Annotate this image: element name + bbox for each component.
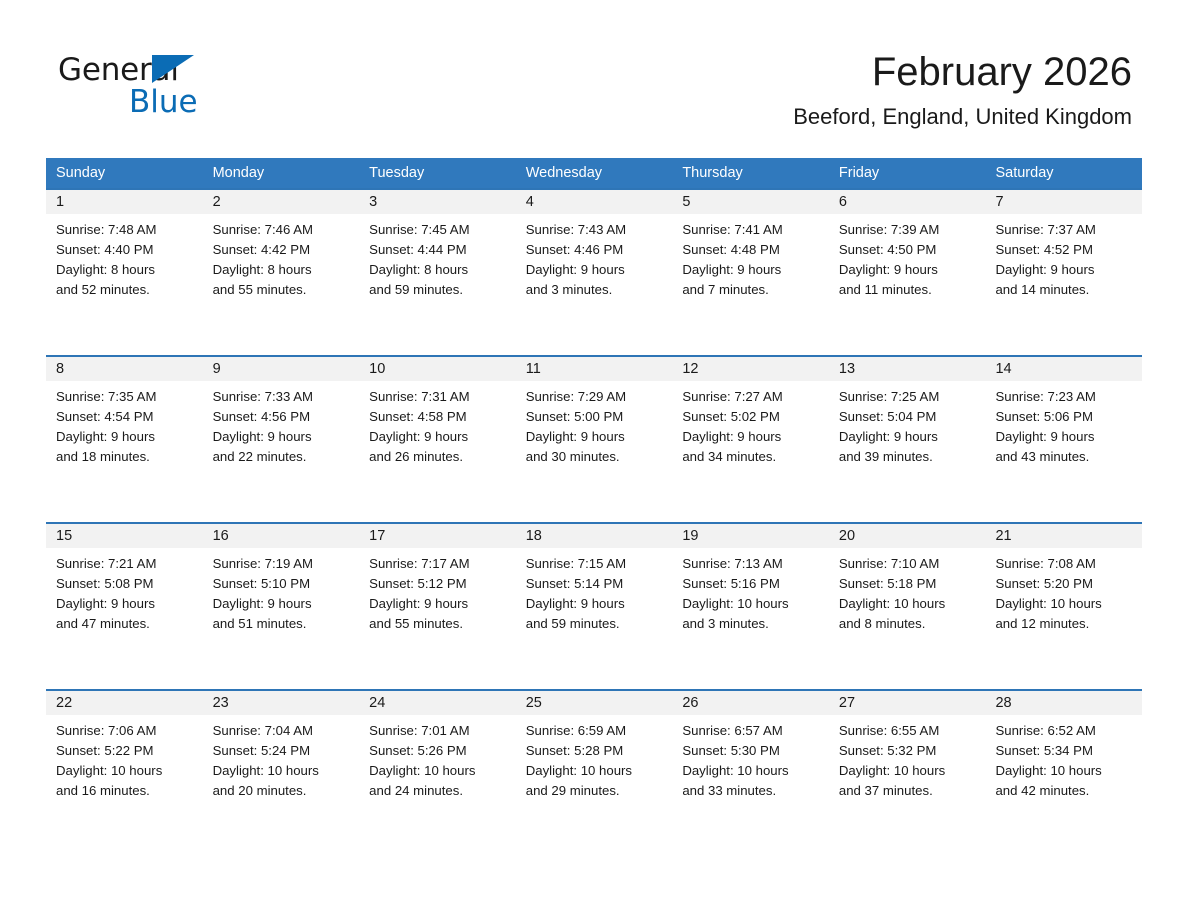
- day-cell[interactable]: 26 Sunrise: 6:57 AM Sunset: 5:30 PM Dayl…: [672, 691, 829, 856]
- day-number: 1: [56, 194, 64, 210]
- daylight-text-line2: and 29 minutes.: [526, 781, 665, 801]
- day-number: 11: [526, 361, 541, 377]
- daylight-text-line1: Daylight: 10 hours: [682, 761, 821, 781]
- day-cell[interactable]: 22 Sunrise: 7:06 AM Sunset: 5:22 PM Dayl…: [46, 691, 203, 856]
- sunrise-text: Sunrise: 7:17 AM: [369, 554, 508, 574]
- day-info: Sunrise: 7:41 AM Sunset: 4:48 PM Dayligh…: [672, 214, 829, 300]
- sunrise-text: Sunrise: 7:06 AM: [56, 721, 195, 741]
- daylight-text-line1: Daylight: 9 hours: [839, 260, 978, 280]
- daylight-text-line1: Daylight: 9 hours: [56, 427, 195, 447]
- daylight-text-line2: and 14 minutes.: [995, 280, 1134, 300]
- day-number-band: 2: [203, 190, 360, 214]
- sunset-text: Sunset: 4:44 PM: [369, 240, 508, 260]
- sunset-text: Sunset: 5:10 PM: [213, 574, 352, 594]
- day-info: Sunrise: 7:23 AM Sunset: 5:06 PM Dayligh…: [985, 381, 1142, 467]
- sunset-text: Sunset: 5:20 PM: [995, 574, 1134, 594]
- sunrise-text: Sunrise: 7:27 AM: [682, 387, 821, 407]
- sunset-text: Sunset: 4:56 PM: [213, 407, 352, 427]
- day-number-band: 15: [46, 524, 203, 548]
- weekday-header-thursday: Thursday: [672, 158, 829, 188]
- day-number-band: 14: [985, 357, 1142, 381]
- page-title: February 2026: [793, 48, 1132, 96]
- day-number-band: 8: [46, 357, 203, 381]
- day-cell[interactable]: 2 Sunrise: 7:46 AM Sunset: 4:42 PM Dayli…: [203, 190, 360, 355]
- day-number: 18: [526, 528, 542, 544]
- day-info: Sunrise: 7:13 AM Sunset: 5:16 PM Dayligh…: [672, 548, 829, 634]
- day-number-band: 3: [359, 190, 516, 214]
- daylight-text-line1: Daylight: 9 hours: [682, 260, 821, 280]
- daylight-text-line1: Daylight: 9 hours: [56, 594, 195, 614]
- sunset-text: Sunset: 4:58 PM: [369, 407, 508, 427]
- day-number: 2: [213, 194, 221, 210]
- day-cell[interactable]: 18 Sunrise: 7:15 AM Sunset: 5:14 PM Dayl…: [516, 524, 673, 689]
- sunset-text: Sunset: 5:06 PM: [995, 407, 1134, 427]
- daylight-text-line2: and 26 minutes.: [369, 447, 508, 467]
- sunset-text: Sunset: 5:12 PM: [369, 574, 508, 594]
- sunrise-text: Sunrise: 7:10 AM: [839, 554, 978, 574]
- day-number: 10: [369, 361, 385, 377]
- sunrise-text: Sunrise: 7:08 AM: [995, 554, 1134, 574]
- daylight-text-line2: and 34 minutes.: [682, 447, 821, 467]
- daylight-text-line1: Daylight: 9 hours: [526, 594, 665, 614]
- day-info: Sunrise: 7:15 AM Sunset: 5:14 PM Dayligh…: [516, 548, 673, 634]
- daylight-text-line2: and 55 minutes.: [213, 280, 352, 300]
- sunset-text: Sunset: 5:22 PM: [56, 741, 195, 761]
- day-number: 4: [526, 194, 534, 210]
- sunset-text: Sunset: 5:00 PM: [526, 407, 665, 427]
- sunset-text: Sunset: 4:46 PM: [526, 240, 665, 260]
- sunrise-text: Sunrise: 7:23 AM: [995, 387, 1134, 407]
- day-number: 6: [839, 194, 847, 210]
- day-info: Sunrise: 7:45 AM Sunset: 4:44 PM Dayligh…: [359, 214, 516, 300]
- weekday-header-tuesday: Tuesday: [359, 158, 516, 188]
- sunset-text: Sunset: 4:42 PM: [213, 240, 352, 260]
- day-number: 12: [682, 361, 698, 377]
- day-number: 14: [995, 361, 1011, 377]
- day-cell[interactable]: 20 Sunrise: 7:10 AM Sunset: 5:18 PM Dayl…: [829, 524, 986, 689]
- sunrise-text: Sunrise: 7:35 AM: [56, 387, 195, 407]
- daylight-text-line1: Daylight: 8 hours: [213, 260, 352, 280]
- day-number: 8: [56, 361, 64, 377]
- daylight-text-line1: Daylight: 8 hours: [369, 260, 508, 280]
- day-number-band: 25: [516, 691, 673, 715]
- daylight-text-line1: Daylight: 10 hours: [56, 761, 195, 781]
- day-number-band: 21: [985, 524, 1142, 548]
- day-info: Sunrise: 7:37 AM Sunset: 4:52 PM Dayligh…: [985, 214, 1142, 300]
- sunset-text: Sunset: 5:08 PM: [56, 574, 195, 594]
- day-number-band: 26: [672, 691, 829, 715]
- day-info: Sunrise: 6:57 AM Sunset: 5:30 PM Dayligh…: [672, 715, 829, 801]
- day-number-band: 16: [203, 524, 360, 548]
- generalblue-logo[interactable]: General Blue: [58, 52, 378, 124]
- daylight-text-line2: and 59 minutes.: [526, 614, 665, 634]
- weekday-header-wednesday: Wednesday: [516, 158, 673, 188]
- sunset-text: Sunset: 5:32 PM: [839, 741, 978, 761]
- daylight-text-line2: and 7 minutes.: [682, 280, 821, 300]
- daylight-text-line2: and 3 minutes.: [682, 614, 821, 634]
- sunrise-text: Sunrise: 7:41 AM: [682, 220, 821, 240]
- daylight-text-line1: Daylight: 8 hours: [56, 260, 195, 280]
- daylight-text-line2: and 20 minutes.: [213, 781, 352, 801]
- sunrise-text: Sunrise: 7:21 AM: [56, 554, 195, 574]
- day-number: 23: [213, 695, 229, 711]
- day-info: Sunrise: 6:55 AM Sunset: 5:32 PM Dayligh…: [829, 715, 986, 801]
- sunset-text: Sunset: 4:54 PM: [56, 407, 195, 427]
- day-cell[interactable]: 8 Sunrise: 7:35 AM Sunset: 4:54 PM Dayli…: [46, 357, 203, 522]
- day-number: 27: [839, 695, 855, 711]
- logo-text-blue: Blue: [129, 84, 198, 120]
- sunset-text: Sunset: 4:40 PM: [56, 240, 195, 260]
- day-number-band: 12: [672, 357, 829, 381]
- sunset-text: Sunset: 5:34 PM: [995, 741, 1134, 761]
- daylight-text-line1: Daylight: 10 hours: [213, 761, 352, 781]
- day-cell[interactable]: 1 Sunrise: 7:48 AM Sunset: 4:40 PM Dayli…: [46, 190, 203, 355]
- sunset-text: Sunset: 5:02 PM: [682, 407, 821, 427]
- daylight-text-line2: and 30 minutes.: [526, 447, 665, 467]
- sunset-text: Sunset: 5:30 PM: [682, 741, 821, 761]
- day-info: Sunrise: 7:10 AM Sunset: 5:18 PM Dayligh…: [829, 548, 986, 634]
- day-number-band: 18: [516, 524, 673, 548]
- week-row: 22 Sunrise: 7:06 AM Sunset: 5:22 PM Dayl…: [46, 689, 1142, 856]
- day-cell[interactable]: 3 Sunrise: 7:45 AM Sunset: 4:44 PM Dayli…: [359, 190, 516, 355]
- week-row: 8 Sunrise: 7:35 AM Sunset: 4:54 PM Dayli…: [46, 355, 1142, 522]
- day-info: Sunrise: 7:39 AM Sunset: 4:50 PM Dayligh…: [829, 214, 986, 300]
- sunrise-text: Sunrise: 7:46 AM: [213, 220, 352, 240]
- day-cell[interactable]: 21 Sunrise: 7:08 AM Sunset: 5:20 PM Dayl…: [985, 524, 1142, 689]
- sunrise-text: Sunrise: 7:19 AM: [213, 554, 352, 574]
- day-info: Sunrise: 7:31 AM Sunset: 4:58 PM Dayligh…: [359, 381, 516, 467]
- day-number-band: 19: [672, 524, 829, 548]
- week-row: 15 Sunrise: 7:21 AM Sunset: 5:08 PM Dayl…: [46, 522, 1142, 689]
- sunset-text: Sunset: 4:52 PM: [995, 240, 1134, 260]
- sunset-text: Sunset: 4:50 PM: [839, 240, 978, 260]
- daylight-text-line2: and 51 minutes.: [213, 614, 352, 634]
- sunset-text: Sunset: 5:24 PM: [213, 741, 352, 761]
- daylight-text-line1: Daylight: 9 hours: [995, 427, 1134, 447]
- day-info: Sunrise: 6:59 AM Sunset: 5:28 PM Dayligh…: [516, 715, 673, 801]
- sunrise-text: Sunrise: 7:43 AM: [526, 220, 665, 240]
- day-cell[interactable]: 12 Sunrise: 7:27 AM Sunset: 5:02 PM Dayl…: [672, 357, 829, 522]
- day-number-band: 11: [516, 357, 673, 381]
- weekday-header-row: Sunday Monday Tuesday Wednesday Thursday…: [46, 158, 1142, 188]
- daylight-text-line1: Daylight: 10 hours: [995, 761, 1134, 781]
- daylight-text-line2: and 59 minutes.: [369, 280, 508, 300]
- day-number: 28: [995, 695, 1011, 711]
- day-cell[interactable]: 23 Sunrise: 7:04 AM Sunset: 5:24 PM Dayl…: [203, 691, 360, 856]
- day-info: Sunrise: 6:52 AM Sunset: 5:34 PM Dayligh…: [985, 715, 1142, 801]
- week-row: 1 Sunrise: 7:48 AM Sunset: 4:40 PM Dayli…: [46, 188, 1142, 355]
- sunrise-text: Sunrise: 6:57 AM: [682, 721, 821, 741]
- day-cell[interactable]: 24 Sunrise: 7:01 AM Sunset: 5:26 PM Dayl…: [359, 691, 516, 856]
- day-number-band: 28: [985, 691, 1142, 715]
- daylight-text-line2: and 39 minutes.: [839, 447, 978, 467]
- day-info: Sunrise: 7:01 AM Sunset: 5:26 PM Dayligh…: [359, 715, 516, 801]
- day-number-band: 1: [46, 190, 203, 214]
- daylight-text-line1: Daylight: 9 hours: [213, 427, 352, 447]
- day-number-band: 9: [203, 357, 360, 381]
- day-number-band: 5: [672, 190, 829, 214]
- day-number-band: 10: [359, 357, 516, 381]
- day-cell[interactable]: 28 Sunrise: 6:52 AM Sunset: 5:34 PM Dayl…: [985, 691, 1142, 856]
- day-info: Sunrise: 7:33 AM Sunset: 4:56 PM Dayligh…: [203, 381, 360, 467]
- day-number-band: 23: [203, 691, 360, 715]
- page-subtitle: Beeford, England, United Kingdom: [793, 104, 1132, 130]
- day-cell[interactable]: 6 Sunrise: 7:39 AM Sunset: 4:50 PM Dayli…: [829, 190, 986, 355]
- day-number-band: 24: [359, 691, 516, 715]
- day-cell[interactable]: 16 Sunrise: 7:19 AM Sunset: 5:10 PM Dayl…: [203, 524, 360, 689]
- day-number: 16: [213, 528, 229, 544]
- day-cell[interactable]: 5 Sunrise: 7:41 AM Sunset: 4:48 PM Dayli…: [672, 190, 829, 355]
- day-info: Sunrise: 7:29 AM Sunset: 5:00 PM Dayligh…: [516, 381, 673, 467]
- daylight-text-line2: and 43 minutes.: [995, 447, 1134, 467]
- day-cell[interactable]: 9 Sunrise: 7:33 AM Sunset: 4:56 PM Dayli…: [203, 357, 360, 522]
- daylight-text-line2: and 33 minutes.: [682, 781, 821, 801]
- day-number-band: 20: [829, 524, 986, 548]
- day-number: 15: [56, 528, 72, 544]
- daylight-text-line2: and 24 minutes.: [369, 781, 508, 801]
- sunrise-text: Sunrise: 6:55 AM: [839, 721, 978, 741]
- daylight-text-line2: and 3 minutes.: [526, 280, 665, 300]
- sunset-text: Sunset: 4:48 PM: [682, 240, 821, 260]
- daylight-text-line1: Daylight: 9 hours: [369, 594, 508, 614]
- day-info: Sunrise: 7:43 AM Sunset: 4:46 PM Dayligh…: [516, 214, 673, 300]
- weekday-header-friday: Friday: [829, 158, 986, 188]
- day-number: 24: [369, 695, 385, 711]
- sunrise-text: Sunrise: 7:48 AM: [56, 220, 195, 240]
- daylight-text-line2: and 55 minutes.: [369, 614, 508, 634]
- sunrise-text: Sunrise: 7:33 AM: [213, 387, 352, 407]
- day-cell[interactable]: 13 Sunrise: 7:25 AM Sunset: 5:04 PM Dayl…: [829, 357, 986, 522]
- sunrise-text: Sunrise: 6:59 AM: [526, 721, 665, 741]
- day-number: 26: [682, 695, 698, 711]
- daylight-text-line2: and 52 minutes.: [56, 280, 195, 300]
- daylight-text-line2: and 16 minutes.: [56, 781, 195, 801]
- day-cell[interactable]: 10 Sunrise: 7:31 AM Sunset: 4:58 PM Dayl…: [359, 357, 516, 522]
- day-info: Sunrise: 7:19 AM Sunset: 5:10 PM Dayligh…: [203, 548, 360, 634]
- sunset-text: Sunset: 5:16 PM: [682, 574, 821, 594]
- sunset-text: Sunset: 5:18 PM: [839, 574, 978, 594]
- daylight-text-line1: Daylight: 9 hours: [213, 594, 352, 614]
- sunset-text: Sunset: 5:04 PM: [839, 407, 978, 427]
- daylight-text-line1: Daylight: 9 hours: [526, 427, 665, 447]
- day-info: Sunrise: 7:35 AM Sunset: 4:54 PM Dayligh…: [46, 381, 203, 467]
- day-cell[interactable]: 7 Sunrise: 7:37 AM Sunset: 4:52 PM Dayli…: [985, 190, 1142, 355]
- page-header: General Blue February 2026 Beeford, Engl…: [0, 0, 1188, 110]
- sunset-text: Sunset: 5:26 PM: [369, 741, 508, 761]
- day-number: 22: [56, 695, 72, 711]
- day-number-band: 6: [829, 190, 986, 214]
- day-number-band: 13: [829, 357, 986, 381]
- weekday-header-monday: Monday: [203, 158, 360, 188]
- title-block: February 2026 Beeford, England, United K…: [793, 48, 1132, 130]
- sunrise-text: Sunrise: 6:52 AM: [995, 721, 1134, 741]
- daylight-text-line1: Daylight: 9 hours: [526, 260, 665, 280]
- day-info: Sunrise: 7:21 AM Sunset: 5:08 PM Dayligh…: [46, 548, 203, 634]
- day-info: Sunrise: 7:08 AM Sunset: 5:20 PM Dayligh…: [985, 548, 1142, 634]
- day-info: Sunrise: 7:25 AM Sunset: 5:04 PM Dayligh…: [829, 381, 986, 467]
- calendar-grid: Sunday Monday Tuesday Wednesday Thursday…: [46, 158, 1142, 856]
- weekday-header-sunday: Sunday: [46, 158, 203, 188]
- day-cell[interactable]: 19 Sunrise: 7:13 AM Sunset: 5:16 PM Dayl…: [672, 524, 829, 689]
- sunrise-text: Sunrise: 7:45 AM: [369, 220, 508, 240]
- daylight-text-line2: and 11 minutes.: [839, 280, 978, 300]
- sunrise-text: Sunrise: 7:31 AM: [369, 387, 508, 407]
- daylight-text-line2: and 8 minutes.: [839, 614, 978, 634]
- logo-triangle-icon: [152, 55, 194, 83]
- daylight-text-line1: Daylight: 9 hours: [682, 427, 821, 447]
- sunset-text: Sunset: 5:28 PM: [526, 741, 665, 761]
- daylight-text-line1: Daylight: 10 hours: [369, 761, 508, 781]
- day-number: 17: [369, 528, 385, 544]
- day-cell[interactable]: 14 Sunrise: 7:23 AM Sunset: 5:06 PM Dayl…: [985, 357, 1142, 522]
- daylight-text-line2: and 47 minutes.: [56, 614, 195, 634]
- day-cell[interactable]: 4 Sunrise: 7:43 AM Sunset: 4:46 PM Dayli…: [516, 190, 673, 355]
- day-number: 25: [526, 695, 542, 711]
- daylight-text-line1: Daylight: 9 hours: [995, 260, 1134, 280]
- day-number: 19: [682, 528, 698, 544]
- daylight-text-line2: and 37 minutes.: [839, 781, 978, 801]
- daylight-text-line1: Daylight: 10 hours: [839, 594, 978, 614]
- daylight-text-line1: Daylight: 9 hours: [839, 427, 978, 447]
- sunrise-text: Sunrise: 7:01 AM: [369, 721, 508, 741]
- day-info: Sunrise: 7:48 AM Sunset: 4:40 PM Dayligh…: [46, 214, 203, 300]
- day-cell[interactable]: 17 Sunrise: 7:17 AM Sunset: 5:12 PM Dayl…: [359, 524, 516, 689]
- day-number: 20: [839, 528, 855, 544]
- daylight-text-line1: Daylight: 10 hours: [682, 594, 821, 614]
- sunrise-text: Sunrise: 7:29 AM: [526, 387, 665, 407]
- day-info: Sunrise: 7:46 AM Sunset: 4:42 PM Dayligh…: [203, 214, 360, 300]
- daylight-text-line1: Daylight: 10 hours: [526, 761, 665, 781]
- day-number: 7: [995, 194, 1003, 210]
- daylight-text-line2: and 22 minutes.: [213, 447, 352, 467]
- day-number-band: 4: [516, 190, 673, 214]
- sunrise-text: Sunrise: 7:13 AM: [682, 554, 821, 574]
- day-info: Sunrise: 7:17 AM Sunset: 5:12 PM Dayligh…: [359, 548, 516, 634]
- daylight-text-line2: and 12 minutes.: [995, 614, 1134, 634]
- daylight-text-line1: Daylight: 10 hours: [839, 761, 978, 781]
- sunrise-text: Sunrise: 7:25 AM: [839, 387, 978, 407]
- day-info: Sunrise: 7:04 AM Sunset: 5:24 PM Dayligh…: [203, 715, 360, 801]
- day-number: 9: [213, 361, 221, 377]
- sunrise-text: Sunrise: 7:37 AM: [995, 220, 1134, 240]
- day-number: 13: [839, 361, 855, 377]
- day-number-band: 7: [985, 190, 1142, 214]
- day-number: 3: [369, 194, 377, 210]
- day-info: Sunrise: 7:06 AM Sunset: 5:22 PM Dayligh…: [46, 715, 203, 801]
- daylight-text-line2: and 18 minutes.: [56, 447, 195, 467]
- day-number: 21: [995, 528, 1011, 544]
- day-info: Sunrise: 7:27 AM Sunset: 5:02 PM Dayligh…: [672, 381, 829, 467]
- weekday-header-saturday: Saturday: [985, 158, 1142, 188]
- sunset-text: Sunset: 5:14 PM: [526, 574, 665, 594]
- daylight-text-line1: Daylight: 10 hours: [995, 594, 1134, 614]
- day-number-band: 22: [46, 691, 203, 715]
- day-number-band: 27: [829, 691, 986, 715]
- day-number: 5: [682, 194, 690, 210]
- day-cell[interactable]: 11 Sunrise: 7:29 AM Sunset: 5:00 PM Dayl…: [516, 357, 673, 522]
- sunrise-text: Sunrise: 7:15 AM: [526, 554, 665, 574]
- day-cell[interactable]: 27 Sunrise: 6:55 AM Sunset: 5:32 PM Dayl…: [829, 691, 986, 856]
- calendar-page: General Blue February 2026 Beeford, Engl…: [0, 0, 1188, 918]
- sunrise-text: Sunrise: 7:39 AM: [839, 220, 978, 240]
- sunrise-text: Sunrise: 7:04 AM: [213, 721, 352, 741]
- day-cell[interactable]: 15 Sunrise: 7:21 AM Sunset: 5:08 PM Dayl…: [46, 524, 203, 689]
- daylight-text-line2: and 42 minutes.: [995, 781, 1134, 801]
- day-cell[interactable]: 25 Sunrise: 6:59 AM Sunset: 5:28 PM Dayl…: [516, 691, 673, 856]
- day-number-band: 17: [359, 524, 516, 548]
- daylight-text-line1: Daylight: 9 hours: [369, 427, 508, 447]
